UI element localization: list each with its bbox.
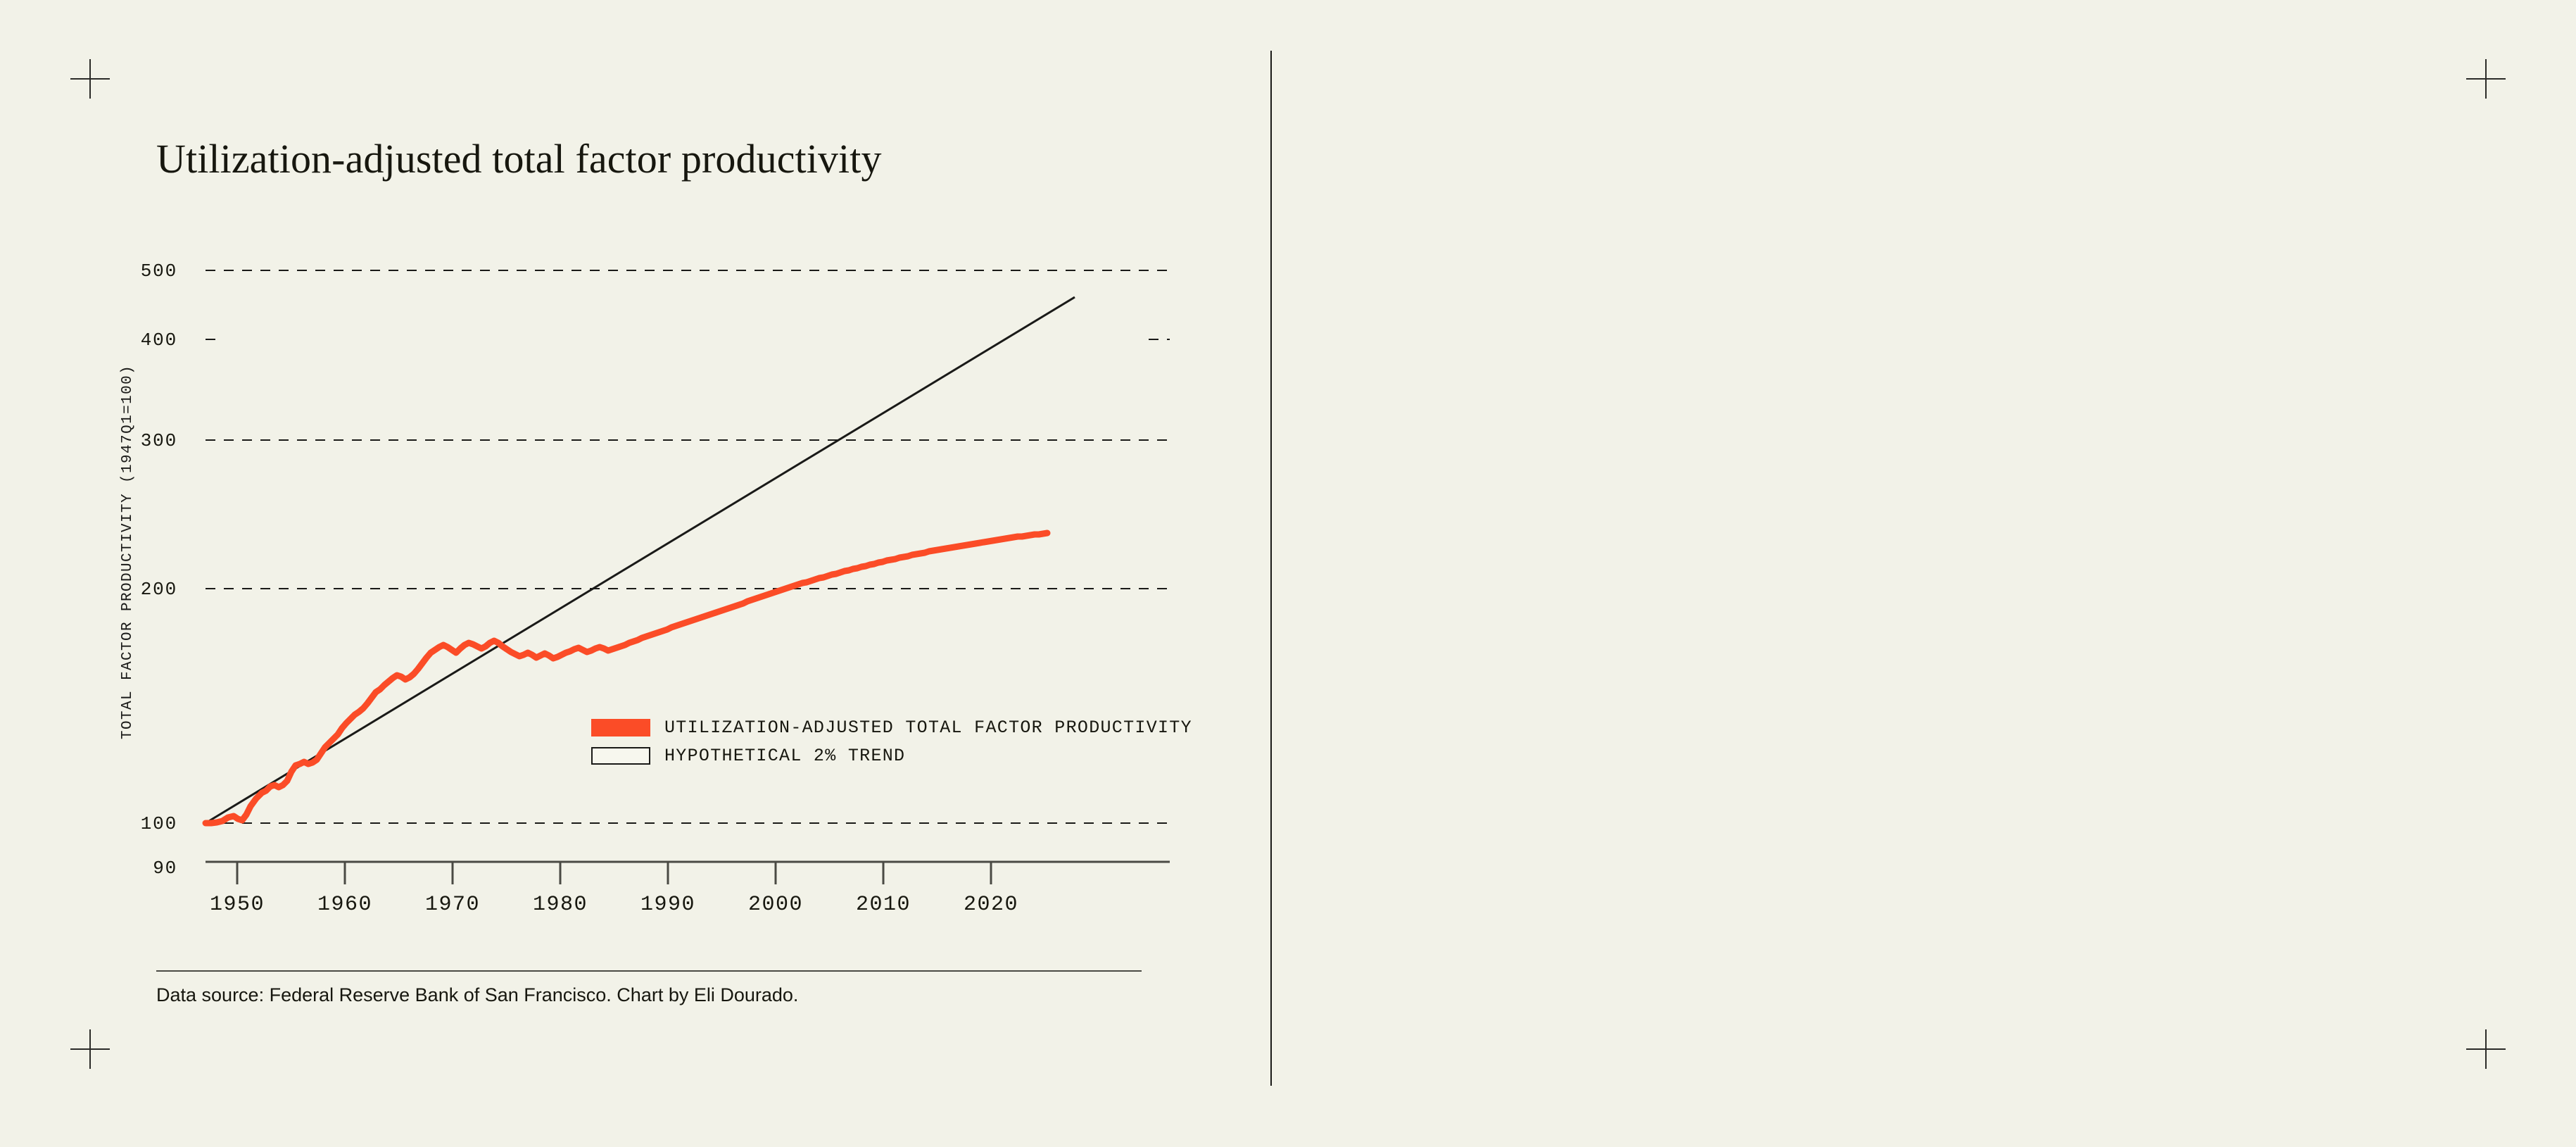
y-tick-label: 90 [100,858,177,879]
y-tick-label: 500 [100,261,177,282]
x-tick-label: 1960 [289,893,401,917]
series-line-tfp [206,533,1047,823]
x-tick-label: 1980 [504,893,617,917]
page-title-left: Utilization-adjusted total factor produc… [156,135,882,182]
y-tick-label: 300 [100,430,177,451]
legend-swatch-icon [591,719,650,737]
y-tick-label: 100 [100,813,177,834]
legend-swatch-icon [591,747,650,765]
x-tick-label: 2010 [827,893,940,917]
x-tick-label: 1990 [612,893,724,917]
chart-plot-tfp [206,269,1170,945]
legend-item-trend: HYPOTHETICAL 2% TREND [591,741,1192,770]
legend-item-series: UTILIZATION-ADJUSTED TOTAL FACTOR PRODUC… [591,713,1192,741]
footer-source-left: Data source: Federal Reserve Bank of San… [156,984,798,1006]
y-tick-label: -0.005 [2565,860,2576,881]
x-tick-label: 2000 [719,893,832,917]
footer-rule-left [156,970,1142,972]
x-tick-label: 2020 [935,893,1047,917]
panel-growth: 3-year average quarterly annual growth U… [1270,0,2576,1147]
legend-label: UTILIZATION-ADJUSTED TOTAL FACTOR PRODUC… [664,717,1192,738]
legend-label: HYPOTHETICAL 2% TREND [664,746,905,766]
x-tick-label: 1970 [396,893,509,917]
y-axis-title-left: TOTAL FACTOR PRODUCTIVITY (1947Q1=100) [120,365,136,739]
panel-tfp: Utilization-adjusted total factor produc… [0,0,1270,1147]
y-tick-label: 400 [100,330,177,351]
y-tick-label: 200 [100,579,177,600]
x-tick-label: 1950 [181,893,293,917]
legend-left: UTILIZATION-ADJUSTED TOTAL FACTOR PRODUC… [591,713,1192,770]
